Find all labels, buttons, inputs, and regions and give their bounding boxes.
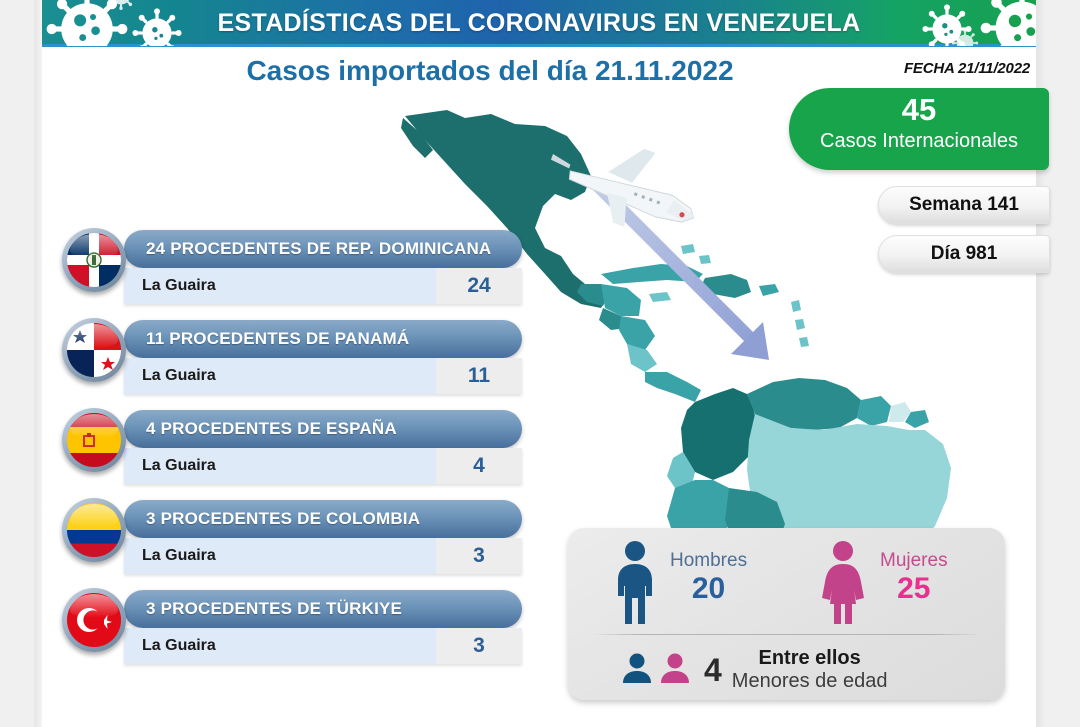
men-count: 20	[670, 572, 747, 606]
country-title: 4 PROCEDENTES DE ESPAÑA	[124, 410, 522, 448]
semana-badge: Semana 141	[878, 186, 1050, 224]
flag-colombia	[62, 498, 126, 562]
country-title: 11 PROCEDENTES DE PANAMÁ	[124, 320, 522, 358]
list-item: 4 PROCEDENTES DE ESPAÑA La Guaira 4	[62, 406, 522, 496]
flag-panama	[62, 318, 126, 382]
men-stat: Hombres 20	[612, 540, 747, 631]
women-stat: Mujeres 25	[818, 540, 948, 631]
city-label: La Guaira	[124, 628, 436, 664]
male-bust-icon	[620, 651, 654, 690]
gender-breakdown-panel: Hombres 20 Mujeres 25	[568, 528, 1005, 700]
country-detail: La Guaira 4	[124, 448, 522, 484]
page-left-margin	[34, 0, 42, 727]
women-label: Mujeres	[880, 550, 948, 571]
female-bust-icon	[658, 651, 692, 690]
country-title: 3 PROCEDENTES DE COLOMBIA	[124, 500, 522, 538]
city-count: 11	[436, 358, 522, 394]
city-count: 3	[436, 538, 522, 574]
city-label: La Guaira	[124, 538, 436, 574]
city-count: 4	[436, 448, 522, 484]
page-subtitle: Casos importados del día 21.11.2022	[140, 52, 840, 90]
page-title: ESTADÍSTICAS DEL CORONAVIRUS EN VENEZUEL…	[42, 0, 1036, 46]
men-label: Hombres	[670, 550, 747, 571]
minors-count: 4	[704, 652, 722, 689]
origin-country-list: 24 PROCEDENTES DE REP. DOMINICANA La Gua…	[62, 226, 522, 676]
country-title: 3 PROCEDENTES DE TÜRKIYE	[124, 590, 522, 628]
panel-divider	[592, 634, 981, 635]
header-banner: ESTADÍSTICAS DEL CORONAVIRUS EN VENEZUEL…	[42, 0, 1036, 46]
international-cases-card: 45 Casos Internacionales	[789, 88, 1049, 170]
country-title: 24 PROCEDENTES DE REP. DOMINICANA	[124, 230, 522, 268]
country-detail: La Guaira 24	[124, 268, 522, 304]
city-label: La Guaira	[124, 268, 436, 304]
fecha-label: FECHA 21/11/2022	[855, 56, 1030, 80]
list-item: 11 PROCEDENTES DE PANAMÁ La Guaira 11	[62, 316, 522, 406]
international-cases-count: 45	[789, 92, 1049, 128]
women-count: 25	[880, 572, 948, 606]
city-label: La Guaira	[124, 448, 436, 484]
international-cases-label: Casos Internacionales	[789, 128, 1049, 154]
flag-spain	[62, 408, 126, 472]
dia-badge: Día 981	[878, 235, 1050, 273]
infographic-root: ESTADÍSTICAS DEL CORONAVIRUS EN VENEZUEL…	[0, 0, 1080, 727]
country-detail: La Guaira 11	[124, 358, 522, 394]
city-label: La Guaira	[124, 358, 436, 394]
list-item: 24 PROCEDENTES DE REP. DOMINICANA La Gua…	[62, 226, 522, 316]
flag-turkiye	[62, 588, 126, 652]
minors-stat: 4 Entre ellos Menores de edad	[568, 640, 1005, 700]
city-count: 24	[436, 268, 522, 304]
city-count: 3	[436, 628, 522, 664]
flag-dominican-republic	[62, 228, 126, 292]
minors-line2: Menores de edad	[732, 670, 888, 693]
country-detail: La Guaira 3	[124, 628, 522, 664]
list-item: 3 PROCEDENTES DE TÜRKIYE La Guaira 3	[62, 586, 522, 676]
country-detail: La Guaira 3	[124, 538, 522, 574]
list-item: 3 PROCEDENTES DE COLOMBIA La Guaira 3	[62, 496, 522, 586]
female-figure-icon	[818, 540, 868, 631]
male-figure-icon	[612, 540, 658, 631]
minors-line1: Entre ellos	[732, 647, 888, 670]
